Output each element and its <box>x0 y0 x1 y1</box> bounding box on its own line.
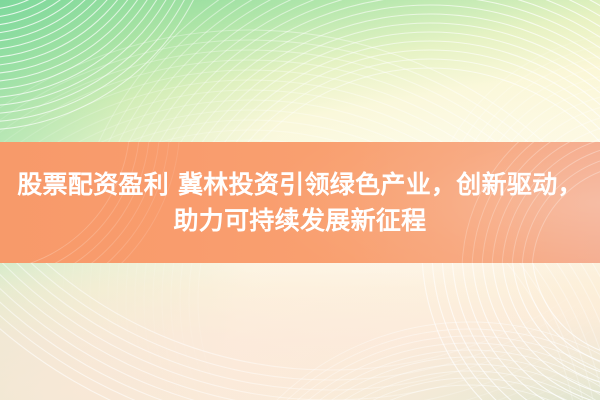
title-band: 股票配资盈利 冀林投资引领绿色产业，创新驱动，助力可持续发展新征程 <box>0 142 600 263</box>
background-warm-overlay <box>0 240 600 400</box>
promo-banner: 股票配资盈利 冀林投资引领绿色产业，创新驱动，助力可持续发展新征程 <box>0 0 600 400</box>
banner-title: 股票配资盈利 冀林投资引领绿色产业，创新驱动，助力可持续发展新征程 <box>0 167 600 238</box>
